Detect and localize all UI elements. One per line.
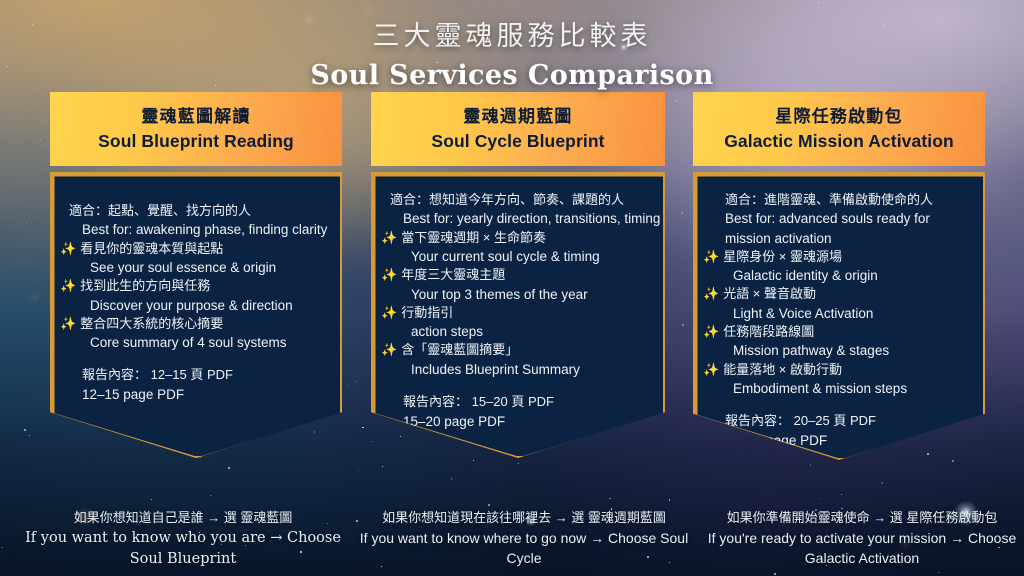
best-for-zh: 適合：進階靈魂、準備啟動使命的人 xyxy=(703,191,975,209)
feature-row: ✨ 年度三大靈魂主題 xyxy=(381,266,655,284)
footer-en: If you're ready to activate your mission… xyxy=(700,528,1024,569)
feature-en: Discover your purpose & direction xyxy=(60,296,332,315)
footer-soul-blueprint: 如果你想知道自己是誰 → 選 靈魂藍圖 If you want to know … xyxy=(18,508,348,570)
feature-en: Your current soul cycle & timing xyxy=(381,247,655,266)
best-for-en: Best for: advanced souls ready for missi… xyxy=(703,209,975,247)
sparkle-icon: ✨ xyxy=(381,341,397,359)
feature-en: Your top 3 themes of the year xyxy=(381,285,655,304)
footer-en: If you want to know who you are → Choose… xyxy=(18,528,348,570)
page-title-zh: 三大靈魂服務比較表 xyxy=(0,14,1024,53)
sparkle-icon: ✨ xyxy=(703,361,719,379)
feature-row: ✨ 看見你的靈魂本質與起點 xyxy=(60,240,332,258)
card-header: 靈魂藍圖解讀 Soul Blueprint Reading xyxy=(50,92,342,166)
sparkle-icon: ✨ xyxy=(381,266,397,284)
feature-zh: 整合四大系統的核心摘要 xyxy=(80,315,223,333)
deliverable-en: 12–15 page PDF xyxy=(60,385,332,404)
card-title-zh: 靈魂藍圖解讀 xyxy=(141,107,250,127)
feature-row: ✨ 當下靈魂週期 × 生命節奏 xyxy=(381,229,655,247)
feature-en: Includes Blueprint Summary xyxy=(381,360,655,379)
feature-row: ✨ 找到此生的方向與任務 xyxy=(60,277,332,295)
best-for-en: Best for: awakening phase, finding clari… xyxy=(60,220,332,239)
feature-en: Mission pathway & stages xyxy=(703,341,975,360)
sparkle-icon: ✨ xyxy=(381,304,397,322)
sparkle-icon: ✨ xyxy=(60,240,76,258)
footer-zh: 如果你準備開始靈魂使命 → 選 星際任務啟動包 xyxy=(700,508,1024,528)
feature-en: Galactic identity & origin xyxy=(703,266,975,285)
feature-zh: 行動指引 xyxy=(401,304,453,322)
deliverable-zh: 報告內容： 12–15 頁 PDF xyxy=(60,366,332,384)
footer-galactic: 如果你準備開始靈魂使命 → 選 星際任務啟動包 If you're ready … xyxy=(700,508,1024,568)
sparkle-icon: ✨ xyxy=(381,229,397,247)
footer-zh: 如果你想知道自己是誰 → 選 靈魂藍圖 xyxy=(18,508,348,528)
feature-row: ✨ 任務階段路線圖 xyxy=(703,323,975,341)
card-title-en: Soul Cycle Blueprint xyxy=(431,131,604,152)
best-for-en: Best for: yearly direction, transitions,… xyxy=(381,209,655,228)
feature-row: ✨ 光語 × 聲音啟動 xyxy=(703,285,975,303)
feature-row: ✨ 含「靈魂藍圖摘要」 xyxy=(381,341,655,359)
feature-row: ✨ 行動指引 xyxy=(381,304,655,322)
feature-en: action steps xyxy=(381,322,655,341)
feature-en: See your soul essence & origin xyxy=(60,258,332,277)
card-soul-blueprint-reading[interactable]: 靈魂藍圖解讀 Soul Blueprint Reading 適合：起點、覺醒、找… xyxy=(50,92,342,458)
feature-zh: 看見你的靈魂本質與起點 xyxy=(80,240,223,258)
feature-zh: 任務階段路線圖 xyxy=(723,323,814,341)
footer-soul-cycle: 如果你想知道現在該往哪裡去 → 選 靈魂週期藍圖 If you want to … xyxy=(342,508,706,568)
card-title-en: Galactic Mission Activation xyxy=(724,131,954,152)
feature-zh: 星際身份 × 靈魂源場 xyxy=(723,248,842,266)
page-title-en: Soul Services Comparison xyxy=(0,60,1024,91)
card-title-zh: 星際任務啟動包 xyxy=(775,107,902,127)
feature-row: ✨ 整合四大系統的核心摘要 xyxy=(60,315,332,333)
feature-zh: 找到此生的方向與任務 xyxy=(80,277,210,295)
feature-zh: 當下靈魂週期 × 生命節奏 xyxy=(401,229,546,247)
deliverable-zh: 報告內容： 15–20 頁 PDF xyxy=(381,393,655,411)
card-title-zh: 靈魂週期藍圖 xyxy=(463,107,572,127)
comparison-cards: 靈魂藍圖解讀 Soul Blueprint Reading 適合：起點、覺醒、找… xyxy=(0,92,1024,492)
deliverable-en: 20–25 page PDF xyxy=(703,431,975,450)
best-for-zh: 適合：想知道今年方向、節奏、課題的人 xyxy=(381,191,655,209)
page-title-block: 三大靈魂服務比較表 Soul Services Comparison xyxy=(0,14,1024,91)
card-body: 適合：想知道今年方向、節奏、課題的人 Best for: yearly dire… xyxy=(371,172,665,458)
sparkle-icon: ✨ xyxy=(703,248,719,266)
feature-zh: 年度三大靈魂主題 xyxy=(401,266,505,284)
deliverable-zh: 報告內容： 20–25 頁 PDF xyxy=(703,412,975,430)
feature-en: Embodiment & mission steps xyxy=(703,379,975,398)
feature-en: Core summary of 4 soul systems xyxy=(60,333,332,352)
card-soul-cycle-blueprint[interactable]: 靈魂週期藍圖 Soul Cycle Blueprint 適合：想知道今年方向、節… xyxy=(371,92,665,458)
feature-row: ✨ 能量落地 × 啟動行動 xyxy=(703,361,975,379)
sparkle-icon: ✨ xyxy=(703,285,719,303)
best-for-zh: 適合：起點、覺醒、找方向的人 xyxy=(60,202,332,220)
feature-zh: 含「靈魂藍圖摘要」 xyxy=(401,341,518,359)
deliverable-en: 15–20 page PDF xyxy=(381,412,655,431)
feature-zh: 能量落地 × 啟動行動 xyxy=(723,361,842,379)
card-header: 靈魂週期藍圖 Soul Cycle Blueprint xyxy=(371,92,665,166)
feature-row: ✨ 星際身份 × 靈魂源場 xyxy=(703,248,975,266)
footer-zh: 如果你想知道現在該往哪裡去 → 選 靈魂週期藍圖 xyxy=(342,508,706,528)
card-header: 星際任務啟動包 Galactic Mission Activation xyxy=(693,92,985,166)
feature-zh: 光語 × 聲音啟動 xyxy=(723,285,816,303)
sparkle-icon: ✨ xyxy=(60,315,76,333)
sparkle-icon: ✨ xyxy=(60,277,76,295)
card-body: 適合：進階靈魂、準備啟動使命的人 Best for: advanced soul… xyxy=(693,172,985,460)
footer-en: If you want to know where to go now → Ch… xyxy=(342,528,706,569)
card-title-en: Soul Blueprint Reading xyxy=(98,131,294,152)
card-galactic-mission-activation[interactable]: 星際任務啟動包 Galactic Mission Activation 適合：進… xyxy=(693,92,985,460)
sparkle-icon: ✨ xyxy=(703,323,719,341)
feature-en: Light & Voice Activation xyxy=(703,304,975,323)
card-body: 適合：起點、覺醒、找方向的人 Best for: awakening phase… xyxy=(50,172,342,458)
